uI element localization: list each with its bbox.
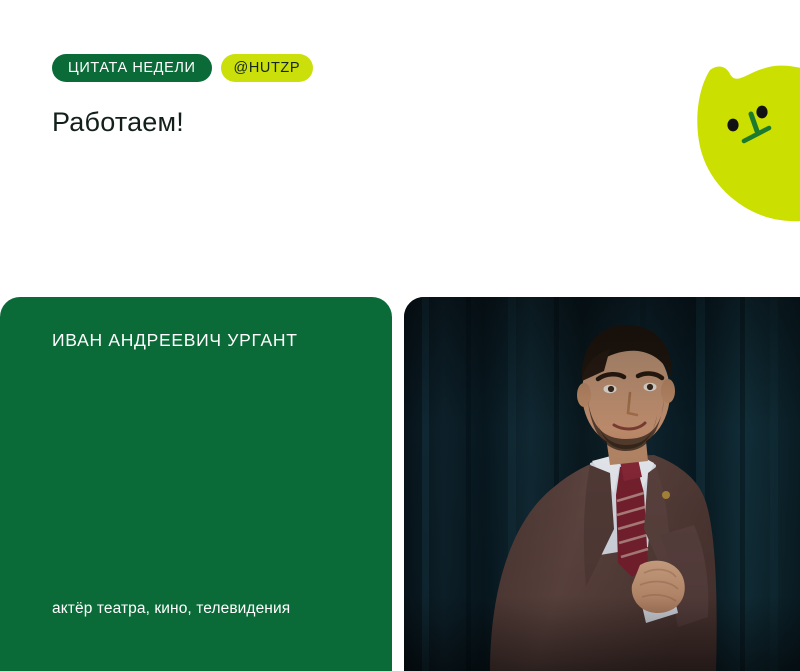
bottom-row: ИВАН АНДРЕЕВИЧ УРГАНТ актёр театра, кино… <box>0 297 800 671</box>
badge-quote-of-the-week: ЦИТАТА НЕДЕЛИ <box>52 54 212 82</box>
person-photo <box>404 297 800 671</box>
badge-row: ЦИТАТА НЕДЕЛИ @HUTZP <box>52 54 313 82</box>
header-section: ЦИТАТА НЕДЕЛИ @HUTZP Работаем! <box>0 0 800 297</box>
quote-text: Работаем! <box>52 105 184 139</box>
person-name: ИВАН АНДРЕЕВИЧ УРГАНТ <box>52 329 352 352</box>
lemon-mascot-icon <box>688 52 800 227</box>
badge-handle: @HUTZP <box>221 54 314 82</box>
person-role: актёр театра, кино, телевидения <box>52 598 352 619</box>
person-info-card: ИВАН АНДРЕЕВИЧ УРГАНТ актёр театра, кино… <box>0 297 392 671</box>
